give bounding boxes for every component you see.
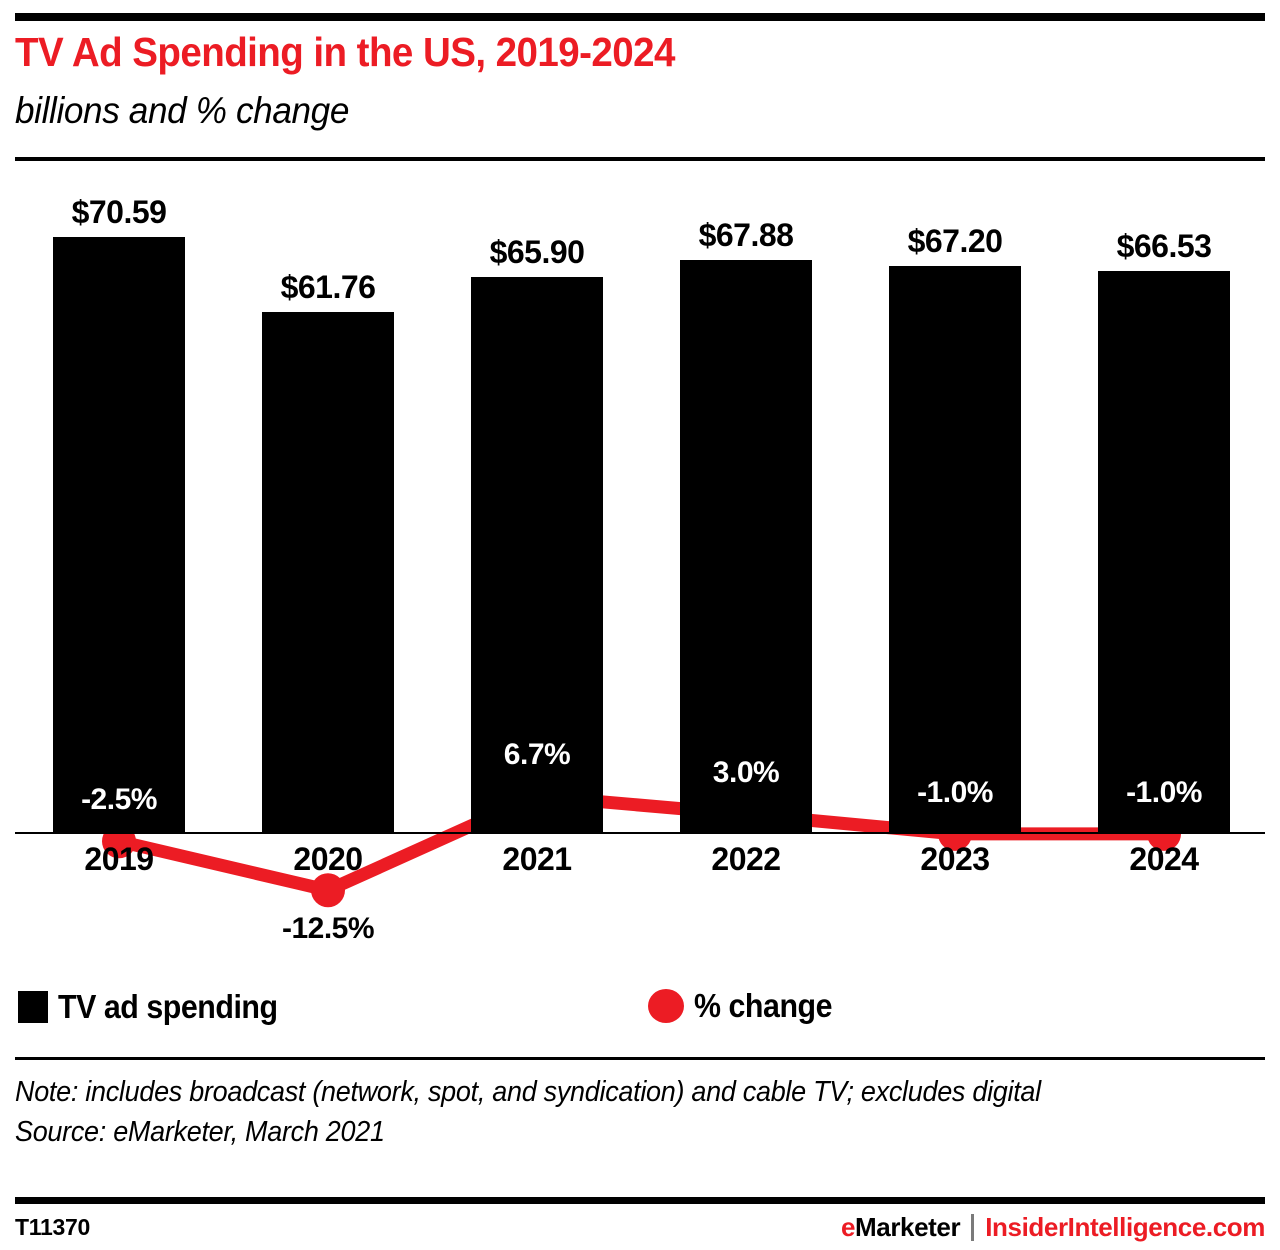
bar-2020 [262, 312, 394, 833]
legend-circle-icon [648, 989, 684, 1023]
bar-2019 [53, 237, 185, 833]
legend-item-label: TV ad spending [58, 988, 278, 1026]
percent-change-label-2019: -2.5% [9, 783, 229, 817]
x-axis-tick-label-2023: 2023 [845, 841, 1065, 878]
legend-item-label: % change [694, 987, 832, 1025]
percent-change-label-2020: -12.5% [218, 912, 438, 946]
percent-change-label-2022: 3.0% [636, 756, 856, 790]
brand-emarketer-marketer: Marketer [855, 1212, 960, 1243]
note-text: Note: includes broadcast (network, spot,… [15, 1072, 1179, 1112]
chart-id: T11370 [15, 1214, 90, 1241]
bar-value-label-2021: $65.90 [427, 234, 647, 271]
legend-square-icon [18, 991, 48, 1023]
bar-value-label-2019: $70.59 [9, 194, 229, 231]
percent-change-label-2024: -1.0% [1054, 776, 1274, 810]
brand-lockup[interactable]: eMarketer InsiderIntelligence.com [841, 1212, 1265, 1243]
bar-value-label-2022: $67.88 [636, 217, 856, 254]
footer-rule [15, 1197, 1265, 1204]
bar-value-label-2020: $61.76 [218, 269, 438, 306]
brand-divider [971, 1214, 974, 1241]
percent-change-label-2023: -1.0% [845, 776, 1065, 810]
x-axis-tick-label-2021: 2021 [427, 841, 647, 878]
chart-page: TV Ad Spending in the US, 2019-2024 bill… [0, 0, 1280, 1250]
brand-emarketer-e: e [841, 1212, 855, 1243]
x-axis-tick-label-2024: 2024 [1054, 841, 1274, 878]
brand-insider-intelligence: InsiderIntelligence.com [985, 1212, 1265, 1243]
x-axis-tick-label-2020: 2020 [218, 841, 438, 878]
bar-value-label-2023: $67.20 [845, 223, 1065, 260]
x-axis-line [15, 832, 1265, 834]
bar-2023 [889, 266, 1021, 833]
x-axis-tick-label-2022: 2022 [636, 841, 856, 878]
bar-2022 [680, 260, 812, 833]
legend-item-percent-change[interactable]: % change [648, 987, 844, 1025]
legend-rule [15, 1057, 1265, 1060]
x-axis-tick-label-2019: 2019 [9, 841, 229, 878]
notes-block: Note: includes broadcast (network, spot,… [15, 1072, 1267, 1152]
percent-change-marker-2020 [311, 873, 345, 907]
chart-plot-area: $70.59-2.5%2019$61.76-12.5%2020$65.906.7… [0, 0, 1280, 1250]
bar-2024 [1098, 271, 1230, 833]
bar-value-label-2024: $66.53 [1054, 228, 1274, 265]
source-text: Source: eMarketer, March 2021 [15, 1112, 1179, 1152]
percent-change-label-2021: 6.7% [427, 738, 647, 772]
percent-change-line-layer [0, 0, 1280, 1250]
legend-item-tv-ad-spending[interactable]: TV ad spending [18, 988, 297, 1026]
